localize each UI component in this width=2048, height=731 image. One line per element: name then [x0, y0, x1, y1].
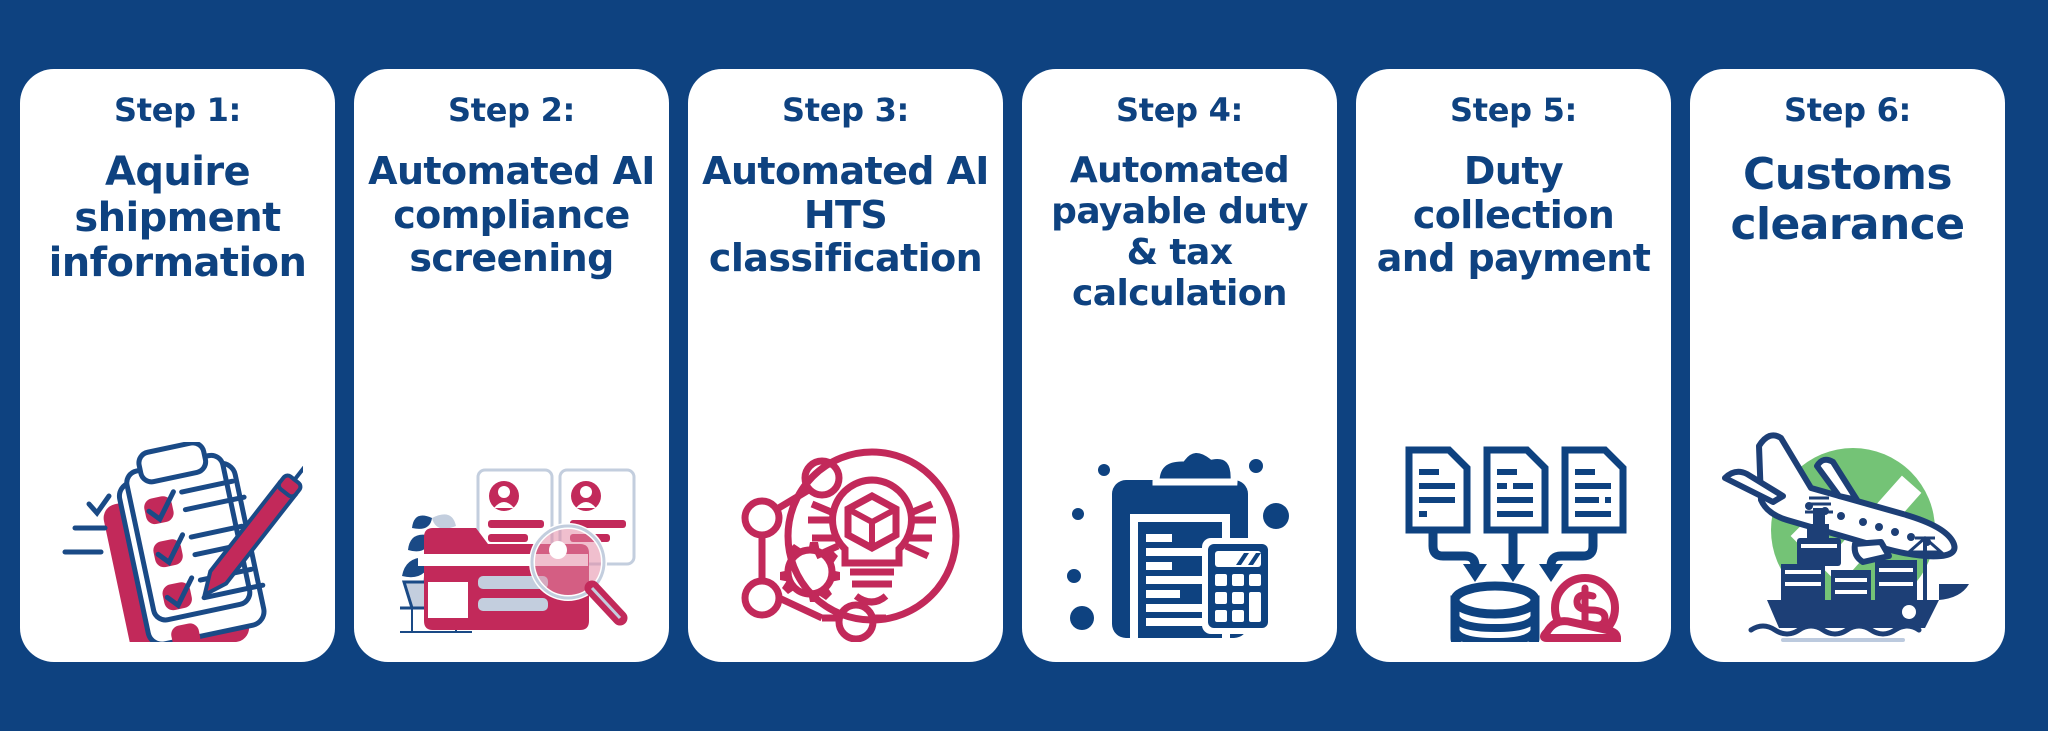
step-card-1[interactable]: Step 1: Aquire shipment information: [20, 69, 335, 662]
step-illustration-1: [30, 287, 325, 648]
step-illustration-3: [698, 280, 993, 648]
step-card-4[interactable]: Step 4: Automated payable duty & tax cal…: [1022, 69, 1337, 662]
step-title-1: Aquire shipment information: [30, 150, 325, 287]
step-card-2[interactable]: Step 2: Automated AI compliance screenin…: [354, 69, 669, 662]
step-title-5: Duty collection and payment: [1366, 150, 1661, 280]
step-title-2: Automated AI compliance screening: [364, 150, 659, 280]
steps-infographic: Step 1: Aquire shipment information: [0, 0, 2048, 731]
airplane-ship-checkmark-icon: [1713, 412, 1983, 642]
step-label-6: Step 6:: [1784, 93, 1911, 128]
step-label-1: Step 1:: [114, 93, 241, 128]
step-label-3: Step 3:: [782, 93, 909, 128]
step-label-4: Step 4:: [1116, 93, 1243, 128]
step-title-3: Automated AI HTS classification: [698, 150, 993, 280]
documents-database-money-icon: [1389, 442, 1639, 642]
step-illustration-5: [1366, 280, 1661, 648]
step-card-5[interactable]: Step 5: Duty collection and payment: [1356, 69, 1671, 662]
step-title-4: Automated payable duty & tax calculation: [1032, 150, 1327, 314]
step-label-2: Step 2:: [448, 93, 575, 128]
clipboard-calculator-icon: [1060, 452, 1300, 642]
step-illustration-2: [364, 280, 659, 648]
lightbulb-network-gears-icon: [726, 422, 966, 642]
step-illustration-4: [1032, 314, 1327, 648]
step-illustration-6: [1700, 251, 1995, 649]
step-title-6: Customs clearance: [1700, 150, 1995, 250]
clipboard-checklist-pen-icon: [53, 442, 303, 642]
step-label-5: Step 5:: [1450, 93, 1577, 128]
step-card-3[interactable]: Step 3: Automated AI HTS classification: [688, 69, 1003, 662]
document-profiles-magnifier-icon: [382, 462, 642, 642]
step-card-6[interactable]: Step 6: Customs clearance: [1690, 69, 2005, 662]
